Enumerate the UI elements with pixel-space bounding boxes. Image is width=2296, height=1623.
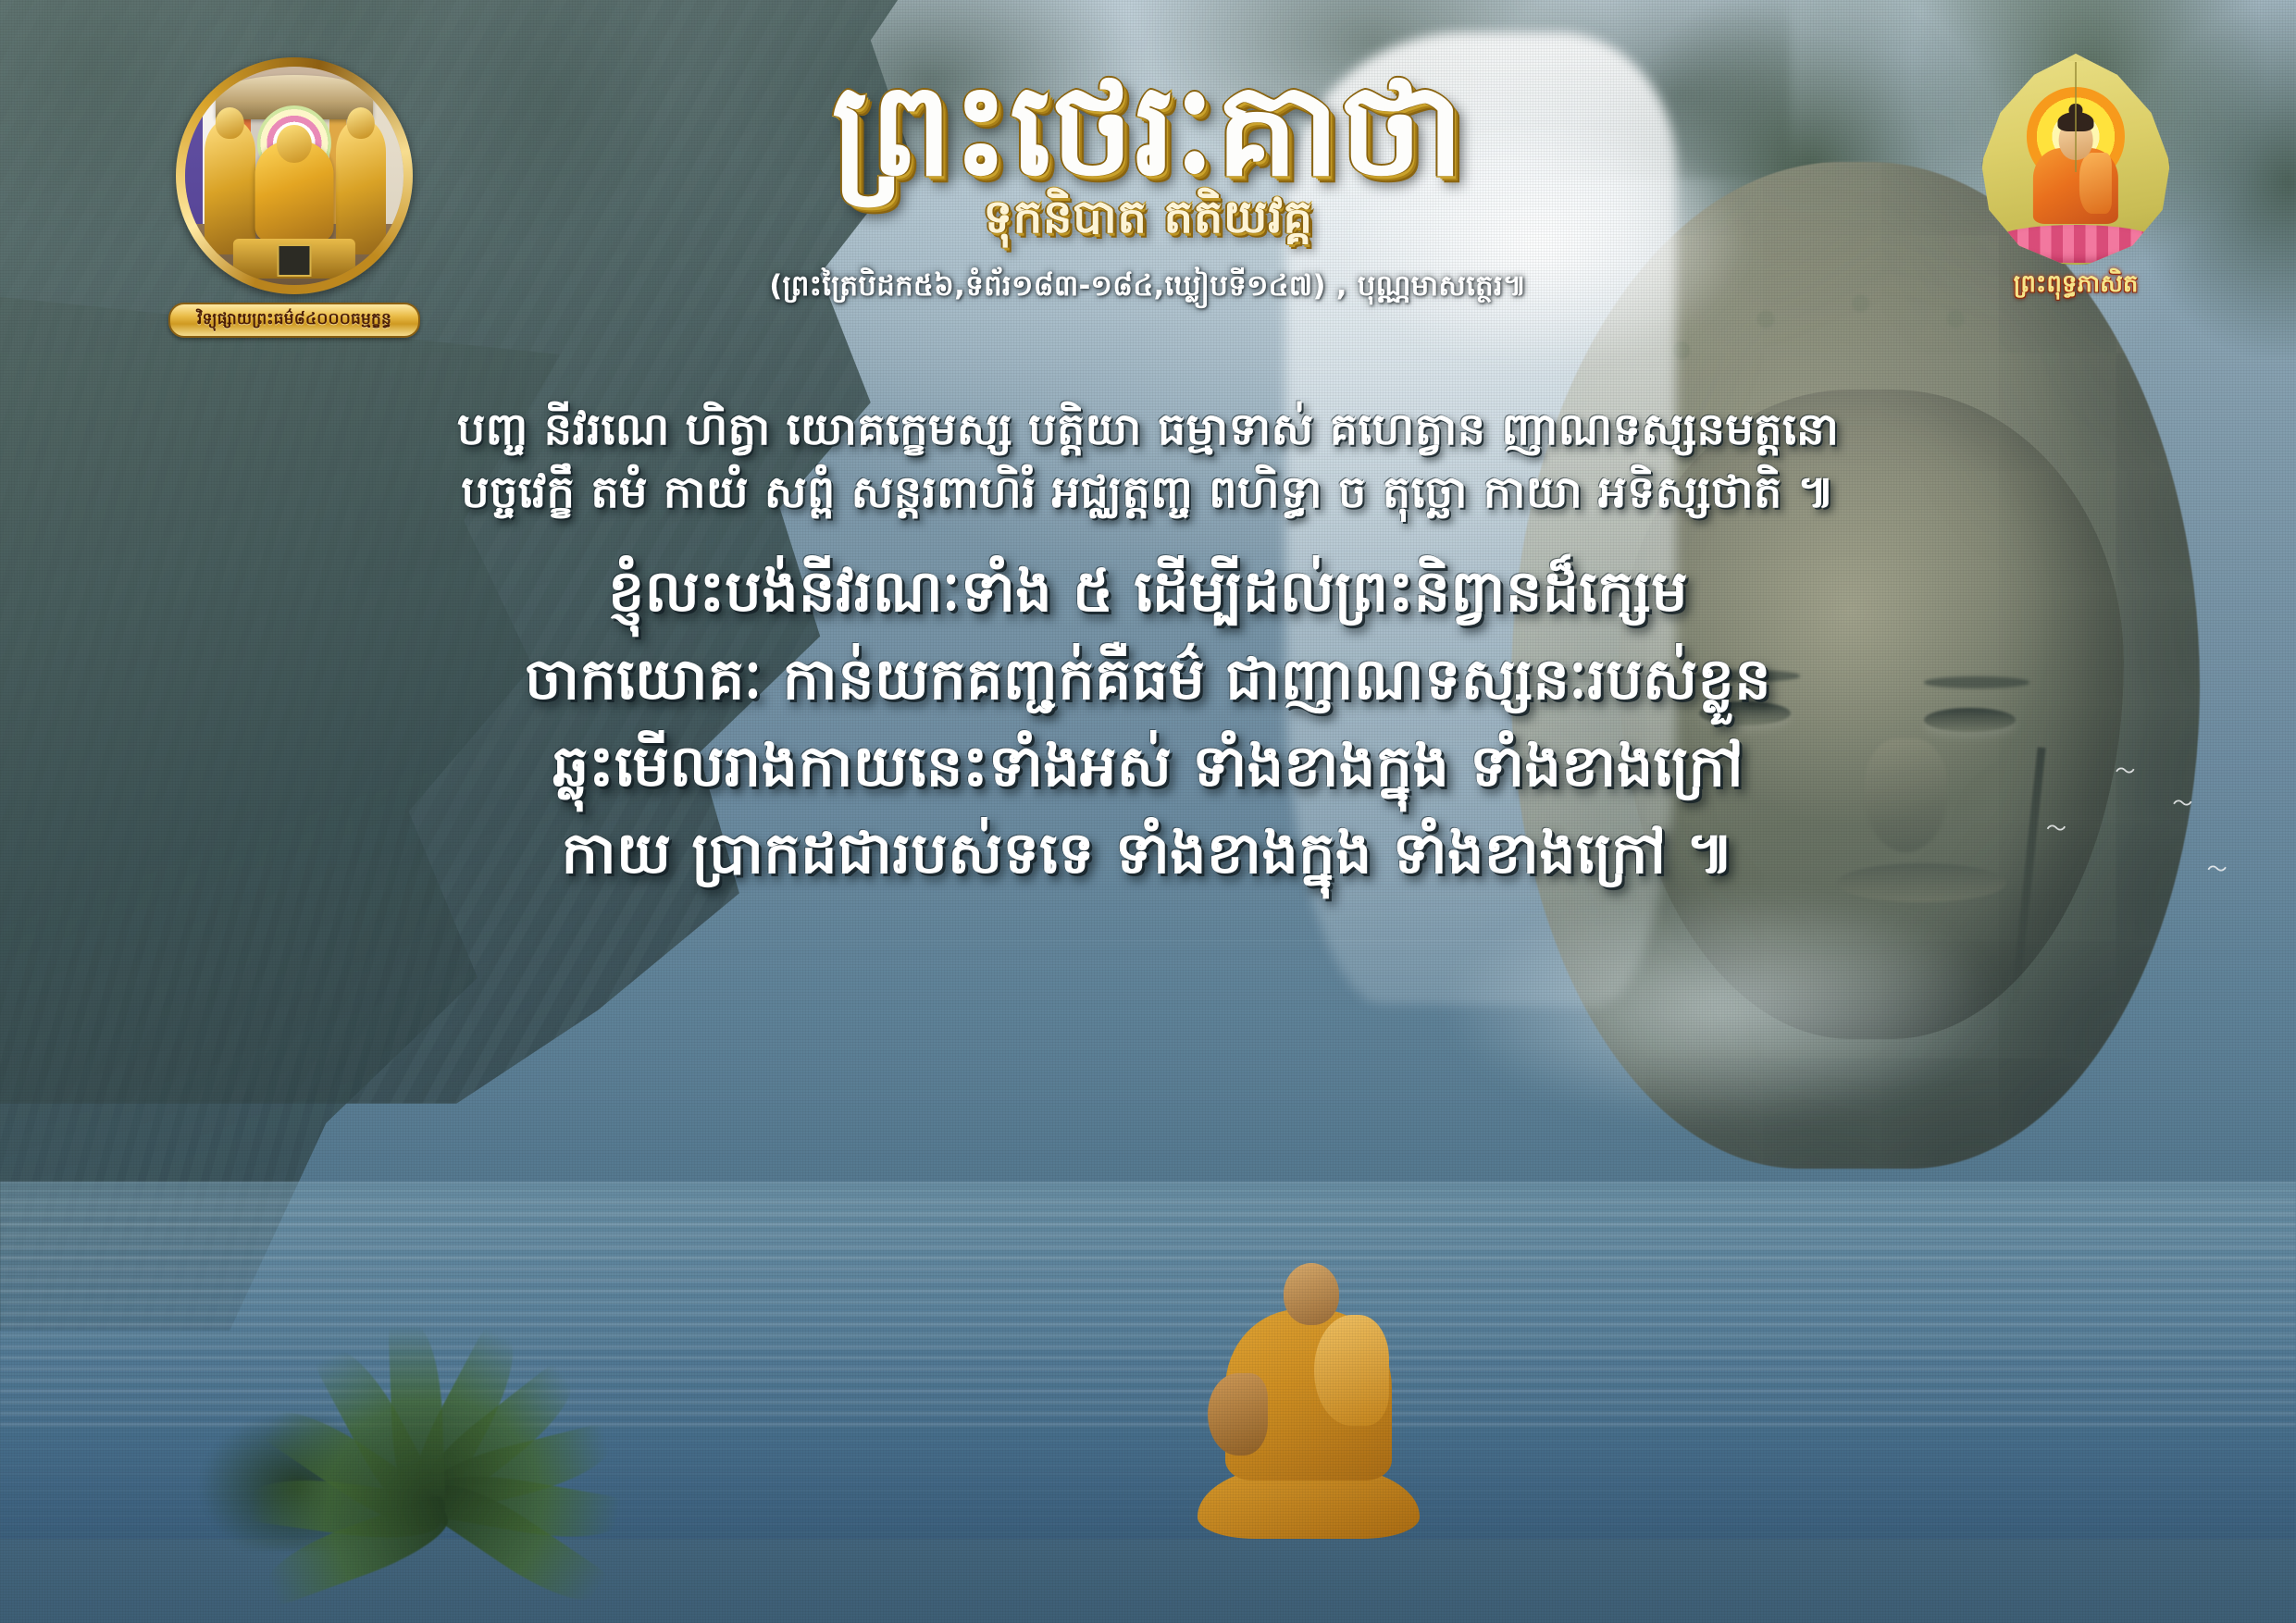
- content-layer: វិទ្យុផ្សាយព្រះធម៌៨៤០០០ធម្មក្ខន្ធ ព្រះពុ…: [0, 0, 2296, 1623]
- khmer-line: ខ្ញុំលះបង់នីវរណៈទាំង ៥ ដើម្បីដល់ព្រះនិព្…: [0, 548, 2296, 635]
- scripture-body: បញ្ច នីវរណេ ហិត្វា យោគក្ខេមស្ស បត្តិយា ធ…: [0, 398, 2296, 897]
- title-block: ព្រះថេរៈគាថា ទុកនិបាត តតិយវគ្គ (ព្រះត្រៃ…: [0, 65, 2296, 310]
- khmer-line: កាយ ប្រាកដជារបស់ទទេ ទាំងខាងក្នុង ទាំងខាង…: [0, 810, 2296, 897]
- bodhi-leaf-tip: [2067, 30, 2084, 61]
- pali-line: បញ្ច នីវរណេ ហិត្វា យោគក្ខេមស្ស បត្តិយា ធ…: [0, 398, 2296, 461]
- poster-root: 〜 〜 〜 〜 វិទ្យុផ្សាយព្រះធម៌៨៤០០០ធម្មក្: [0, 0, 2296, 1623]
- emblem-left-banner-label: វិទ្យុផ្សាយព្រះធម៌៨៤០០០ធម្មក្ខន្ធ: [197, 309, 391, 332]
- scripture-citation: (ព្រះត្រៃបិដក៥៦,ទំព័រ១៨៣-១៨៤,ឃ្លៀបទី១៤៧)…: [0, 268, 2296, 310]
- page-title: ព្រះថេរៈគាថា: [0, 65, 2296, 197]
- khmer-translation-group: ខ្ញុំលះបង់នីវរណៈទាំង ៥ ដើម្បីដល់ព្រះនិព្…: [0, 548, 2296, 897]
- khmer-line: ឆ្លុះមើលរាងកាយនេះទាំងអស់ ទាំងខាងក្នុង ទា…: [0, 723, 2296, 810]
- khmer-line: ចាកយោគៈ កាន់យកគញ្ជក់គឺធម៌ ជាញាណទស្សនៈរបស…: [0, 636, 2296, 723]
- page-subtitle: ទុកនិបាត តតិយវគ្គ: [0, 188, 2296, 255]
- pali-line: បច្ចវេក្ខឹ តមំ កាយំ សព្ពំ សន្តរពាហិរំ អជ…: [0, 461, 2296, 524]
